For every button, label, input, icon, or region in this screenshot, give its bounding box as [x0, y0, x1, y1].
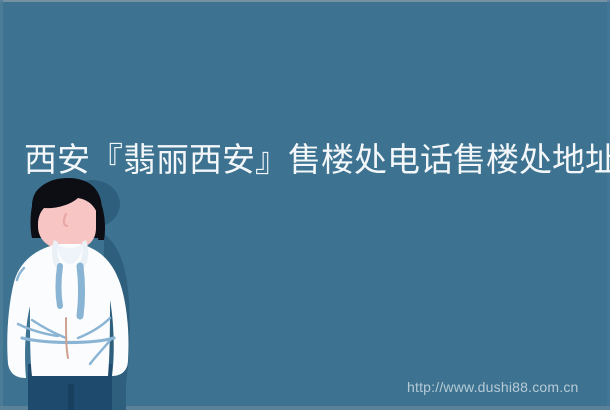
- top-edge-border: [0, 0, 610, 2]
- page-title: 西安『翡丽西安』售楼处电话售楼处地址: [24, 141, 596, 179]
- site-watermark: http://www.dushi88.com.cn: [407, 379, 579, 396]
- image-canvas: 西安『翡丽西安』售楼处电话售楼处地址 http://www.dushi88.co…: [0, 0, 610, 410]
- person-illustration: [0, 178, 150, 410]
